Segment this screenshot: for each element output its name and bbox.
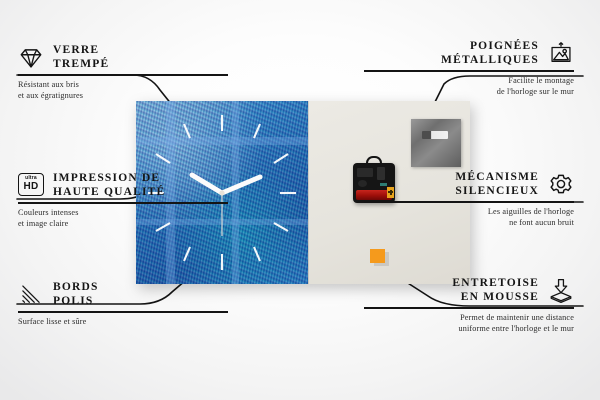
sub-line-1: Résistant aux bris bbox=[18, 79, 228, 90]
title-line-2: POLIS bbox=[53, 295, 99, 309]
callout-subtitle: Surface lisse et sûre bbox=[18, 316, 228, 327]
callout-entretoise-en-mousse: ENTRETOISE EN MOUSSE Permet de maintenir… bbox=[364, 277, 574, 334]
diamond-icon bbox=[18, 45, 44, 71]
callout-verre-trempe: VERRE TREMPÉ Résistant aux bris et aux é… bbox=[18, 44, 228, 101]
sub-line-1: Surface lisse et sûre bbox=[18, 316, 228, 327]
sub-line-2: et image claire bbox=[18, 218, 228, 229]
sub-line-1: Facilite le montage bbox=[364, 75, 574, 86]
callout-subtitle: Permet de maintenir une distance uniform… bbox=[364, 312, 574, 335]
sub-line-1: Permet de maintenir une distance bbox=[364, 312, 574, 323]
hanger-slot bbox=[422, 131, 448, 139]
title-line-1: POIGNÉES bbox=[441, 40, 539, 54]
foam-spacer bbox=[370, 249, 385, 263]
callout-header: VERRE TREMPÉ bbox=[18, 44, 228, 71]
callout-header: ultra HD IMPRESSION DE HAUTE QUALITÉ bbox=[18, 172, 228, 199]
callout-title: ENTRETOISE EN MOUSSE bbox=[452, 277, 539, 304]
mechanism-hook bbox=[366, 156, 382, 166]
sub-line-2: uniforme entre l'horloge et le mur bbox=[364, 323, 574, 334]
sub-line-2: ne font aucun bruit bbox=[364, 217, 574, 228]
metal-hanger-plate bbox=[411, 119, 461, 167]
callout-title: IMPRESSION DE HAUTE QUALITÉ bbox=[53, 172, 165, 199]
title-line-2: HAUTE QUALITÉ bbox=[53, 186, 165, 200]
callout-rule bbox=[18, 311, 228, 312]
title-line-1: VERRE bbox=[53, 44, 109, 58]
sub-line-2: et aux égratignures bbox=[18, 90, 228, 101]
callout-header: MÉCANISME SILENCIEUX bbox=[364, 171, 574, 198]
callout-poignees-metalliques: POIGNÉES MÉTALLIQUES Facilite le montage… bbox=[364, 40, 574, 97]
callout-subtitle: Facilite le montage de l'horloge sur le … bbox=[364, 75, 574, 98]
callout-subtitle: Les aiguilles de l'horloge ne font aucun… bbox=[364, 206, 574, 229]
title-line-2: EN MOUSSE bbox=[452, 291, 539, 305]
callout-title: VERRE TREMPÉ bbox=[53, 44, 109, 71]
callout-bords-polis: BORDS POLIS Surface lisse et sûre bbox=[18, 281, 228, 327]
sub-line-2: de l'horloge sur le mur bbox=[364, 86, 574, 97]
title-line-1: IMPRESSION DE bbox=[53, 172, 165, 186]
polished-edges-icon bbox=[18, 282, 44, 308]
callout-header: ENTRETOISE EN MOUSSE bbox=[364, 277, 574, 304]
callout-rule bbox=[18, 74, 228, 75]
infographic-canvas: VERRE TREMPÉ Résistant aux bris et aux é… bbox=[0, 0, 600, 400]
callout-rule bbox=[364, 70, 574, 71]
sub-line-1: Couleurs intenses bbox=[18, 207, 228, 218]
callout-subtitle: Couleurs intenses et image claire bbox=[18, 207, 228, 230]
callout-subtitle: Résistant aux bris et aux égratignures bbox=[18, 79, 228, 102]
callout-header: BORDS POLIS bbox=[18, 281, 228, 308]
callout-header: POIGNÉES MÉTALLIQUES bbox=[364, 40, 574, 67]
callout-rule bbox=[364, 307, 574, 308]
callout-mecanisme-silencieux: MÉCANISME SILENCIEUX Les aiguilles de l'… bbox=[364, 171, 574, 228]
title-line-1: MÉCANISME bbox=[455, 171, 539, 185]
callout-title: POIGNÉES MÉTALLIQUES bbox=[441, 40, 539, 67]
title-line-2: MÉTALLIQUES bbox=[441, 54, 539, 68]
callout-title: MÉCANISME SILENCIEUX bbox=[455, 171, 539, 198]
title-line-2: SILENCIEUX bbox=[455, 185, 539, 199]
callout-rule bbox=[18, 202, 228, 203]
callout-impression-haute-qualite: ultra HD IMPRESSION DE HAUTE QUALITÉ Cou… bbox=[18, 172, 228, 229]
sub-line-1: Les aiguilles de l'horloge bbox=[364, 206, 574, 217]
title-line-1: ENTRETOISE bbox=[452, 277, 539, 291]
gear-icon bbox=[548, 172, 574, 198]
foam-spacer-icon bbox=[548, 278, 574, 304]
hd-main-label: HD bbox=[23, 182, 38, 192]
title-line-2: TREMPÉ bbox=[53, 58, 109, 72]
callout-title: BORDS POLIS bbox=[53, 281, 99, 308]
callout-rule bbox=[364, 201, 574, 202]
title-line-1: BORDS bbox=[53, 281, 99, 295]
picture-frame-icon bbox=[548, 41, 574, 67]
ultra-hd-icon: ultra HD bbox=[18, 173, 44, 199]
